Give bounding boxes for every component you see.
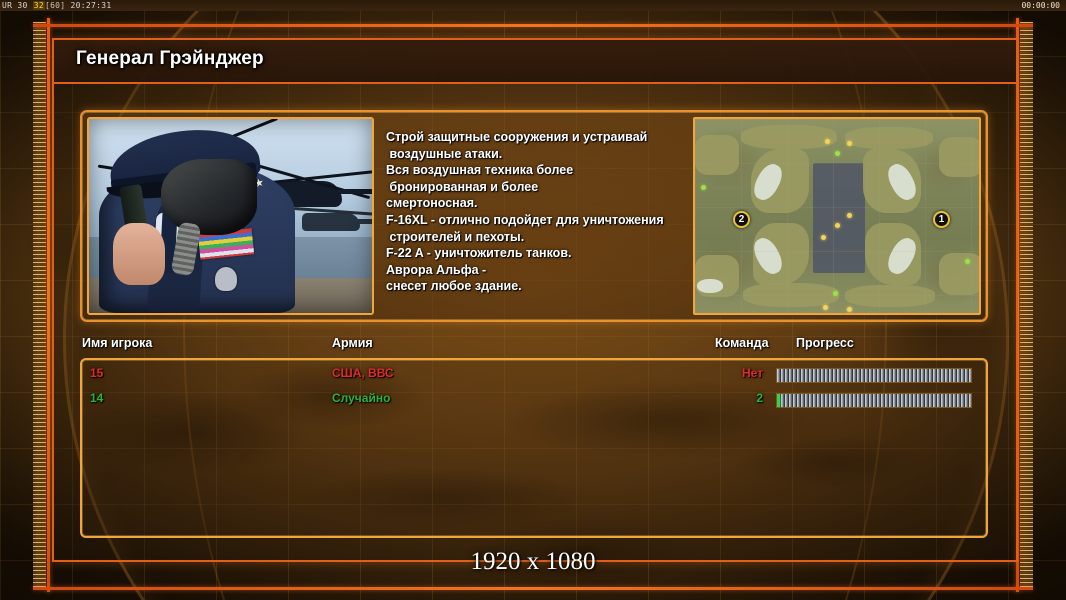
map-resource-marker — [965, 259, 970, 264]
portrait-inner-shadow — [89, 119, 372, 313]
table-row[interactable]: 14Случайно2 — [82, 391, 986, 415]
map-resource-marker — [823, 305, 828, 310]
fps-prefix: UR — [2, 1, 12, 10]
page-title: Генерал Грэйнджер — [76, 48, 264, 70]
cell-team: 2 — [715, 391, 763, 405]
map-resource-marker — [847, 307, 852, 312]
map-resource-marker — [701, 185, 706, 190]
rail-left — [47, 18, 50, 592]
progress-bar-marker — [777, 394, 780, 407]
ruler-strip-right — [1020, 22, 1033, 588]
cell-army: США, ВВС — [332, 366, 394, 380]
map-resource-marker — [825, 139, 830, 144]
progress-bar-fill — [777, 369, 971, 382]
resolution-label: 1920 x 1080 — [0, 548, 1066, 576]
player-table-header: Имя игрока Армия Команда Прогресс — [80, 336, 988, 358]
map-resource-marker — [847, 213, 852, 218]
rail-top — [33, 24, 1033, 27]
cell-player-name: 15 — [90, 366, 103, 380]
map-start-position-1[interactable]: 1 — [933, 211, 950, 228]
table-row[interactable]: 15США, ВВСНет — [82, 366, 986, 390]
clock-readout: 00:00:00 — [1021, 0, 1060, 11]
column-header-progress: Прогресс — [796, 336, 854, 350]
main-panel: Генерал Грэйнджер — [52, 38, 1018, 562]
map-resource-marker — [835, 223, 840, 228]
map-resource-marker — [835, 151, 840, 156]
ruler-strip-left — [33, 22, 46, 588]
top-status-bar: UR 30 32[60] 20:27:31 00:00:00 — [0, 0, 1066, 11]
map-start-position-2[interactable]: 2 — [733, 211, 750, 228]
panel-titlebar: Генерал Грэйнджер — [54, 40, 1016, 84]
cell-team: Нет — [715, 366, 763, 380]
cell-army: Случайно — [332, 391, 390, 405]
progress-bar-fill — [777, 394, 971, 407]
progress-bar — [776, 368, 972, 383]
general-portrait — [87, 117, 374, 315]
column-header-player-name: Имя игрока — [82, 336, 152, 350]
session-time: 20:27:31 — [71, 1, 112, 10]
general-info-row: Строй защитные сооружения и устраивай во… — [80, 110, 988, 322]
description-text: Строй защитные сооружения и устраивай во… — [386, 129, 678, 295]
fps-limit: [60] — [45, 1, 65, 10]
fps-value: 30 — [17, 1, 27, 10]
column-header-team: Команда — [715, 336, 769, 350]
map-resource-marker — [833, 291, 838, 296]
map-resource-marker — [847, 141, 852, 146]
fps-highlight: 32 — [33, 1, 45, 10]
map-preview: 21 — [693, 117, 981, 315]
map-resource-marker — [821, 235, 826, 240]
cell-player-name: 14 — [90, 391, 103, 405]
rail-bottom — [33, 587, 1033, 590]
loading-screen: UR 30 32[60] 20:27:31 00:00:00 Генерал Г… — [0, 0, 1066, 600]
progress-bar — [776, 393, 972, 408]
player-table-body: 15США, ВВСНет14Случайно2 — [80, 358, 988, 538]
general-description: Строй защитные сооружения и устраивай во… — [382, 117, 682, 315]
column-header-army: Армия — [332, 336, 373, 350]
fps-counter: UR 30 32[60] 20:27:31 — [2, 0, 111, 11]
